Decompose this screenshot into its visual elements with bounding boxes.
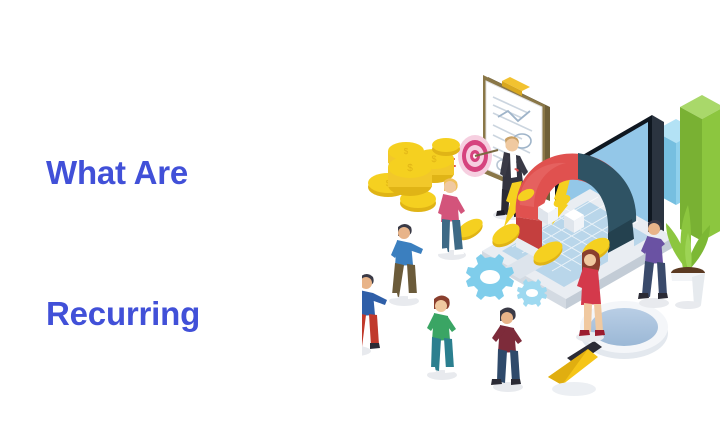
headline-line-2: Recurring <box>46 290 346 337</box>
banner-root: What Are Recurring Customers and How to … <box>0 0 720 430</box>
svg-text:$: $ <box>407 163 413 174</box>
person-green-teal <box>425 296 457 381</box>
page-title: What Are Recurring Customers and How to … <box>46 55 346 430</box>
magnifying-glass <box>548 301 668 396</box>
svg-text:$: $ <box>431 154 436 164</box>
person-maroon <box>491 308 523 393</box>
person-blue-top <box>388 224 423 306</box>
illustration: $ $ $ <box>362 55 720 400</box>
person-blue-red <box>362 274 387 356</box>
person-pink-top <box>438 178 466 260</box>
svg-text:$: $ <box>404 147 409 156</box>
headline-line-1: What Are <box>46 149 346 196</box>
isometric-scene-svg: $ $ $ <box>362 55 720 400</box>
